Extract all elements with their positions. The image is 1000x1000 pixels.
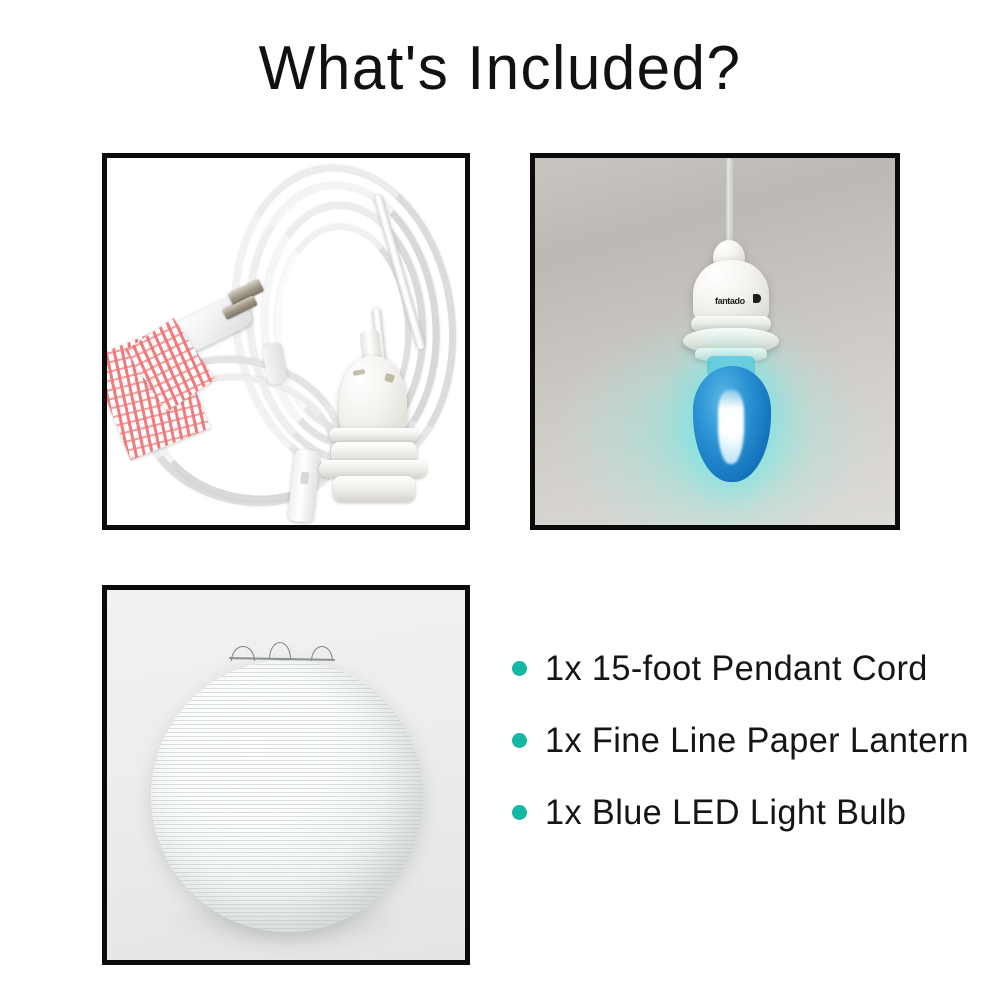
included-items-list: 1x 15-foot Pendant Cord 1x Fine Line Pap…	[512, 632, 982, 848]
cord-socket-ring-lower	[333, 476, 415, 502]
photo-pendant-cord	[107, 158, 465, 525]
list-item-label: 1x 15-foot Pendant Cord	[545, 651, 928, 686]
list-item: 1x 15-foot Pendant Cord	[512, 632, 982, 704]
bulb-socket-brand-label: fantado	[715, 296, 745, 306]
photo-frame-pendant-cord	[102, 153, 470, 530]
bullet-dot-icon	[512, 661, 527, 676]
bullet-dot-icon	[512, 733, 527, 748]
lantern-sphere	[151, 660, 423, 932]
list-item-label: 1x Blue LED Light Bulb	[545, 795, 906, 830]
photo-frame-paper-lantern	[102, 585, 470, 965]
cord-switch-nub	[300, 472, 309, 485]
list-item: 1x Fine Line Paper Lantern	[512, 704, 982, 776]
list-item: 1x Blue LED Light Bulb	[512, 776, 982, 848]
photo-blue-bulb: fantado	[535, 158, 895, 525]
bullet-dot-icon	[512, 805, 527, 820]
photo-frame-blue-bulb: fantado	[530, 153, 900, 530]
bulb-filament	[718, 390, 744, 464]
cord-socket-ring-upper	[329, 428, 419, 442]
list-item-label: 1x Fine Line Paper Lantern	[545, 723, 969, 758]
bulb-hanging-cord	[725, 158, 733, 246]
page-title: What's Included?	[15, 38, 985, 100]
bulb-socket-brand-mark-icon	[753, 294, 761, 303]
photo-paper-lantern	[107, 590, 465, 960]
